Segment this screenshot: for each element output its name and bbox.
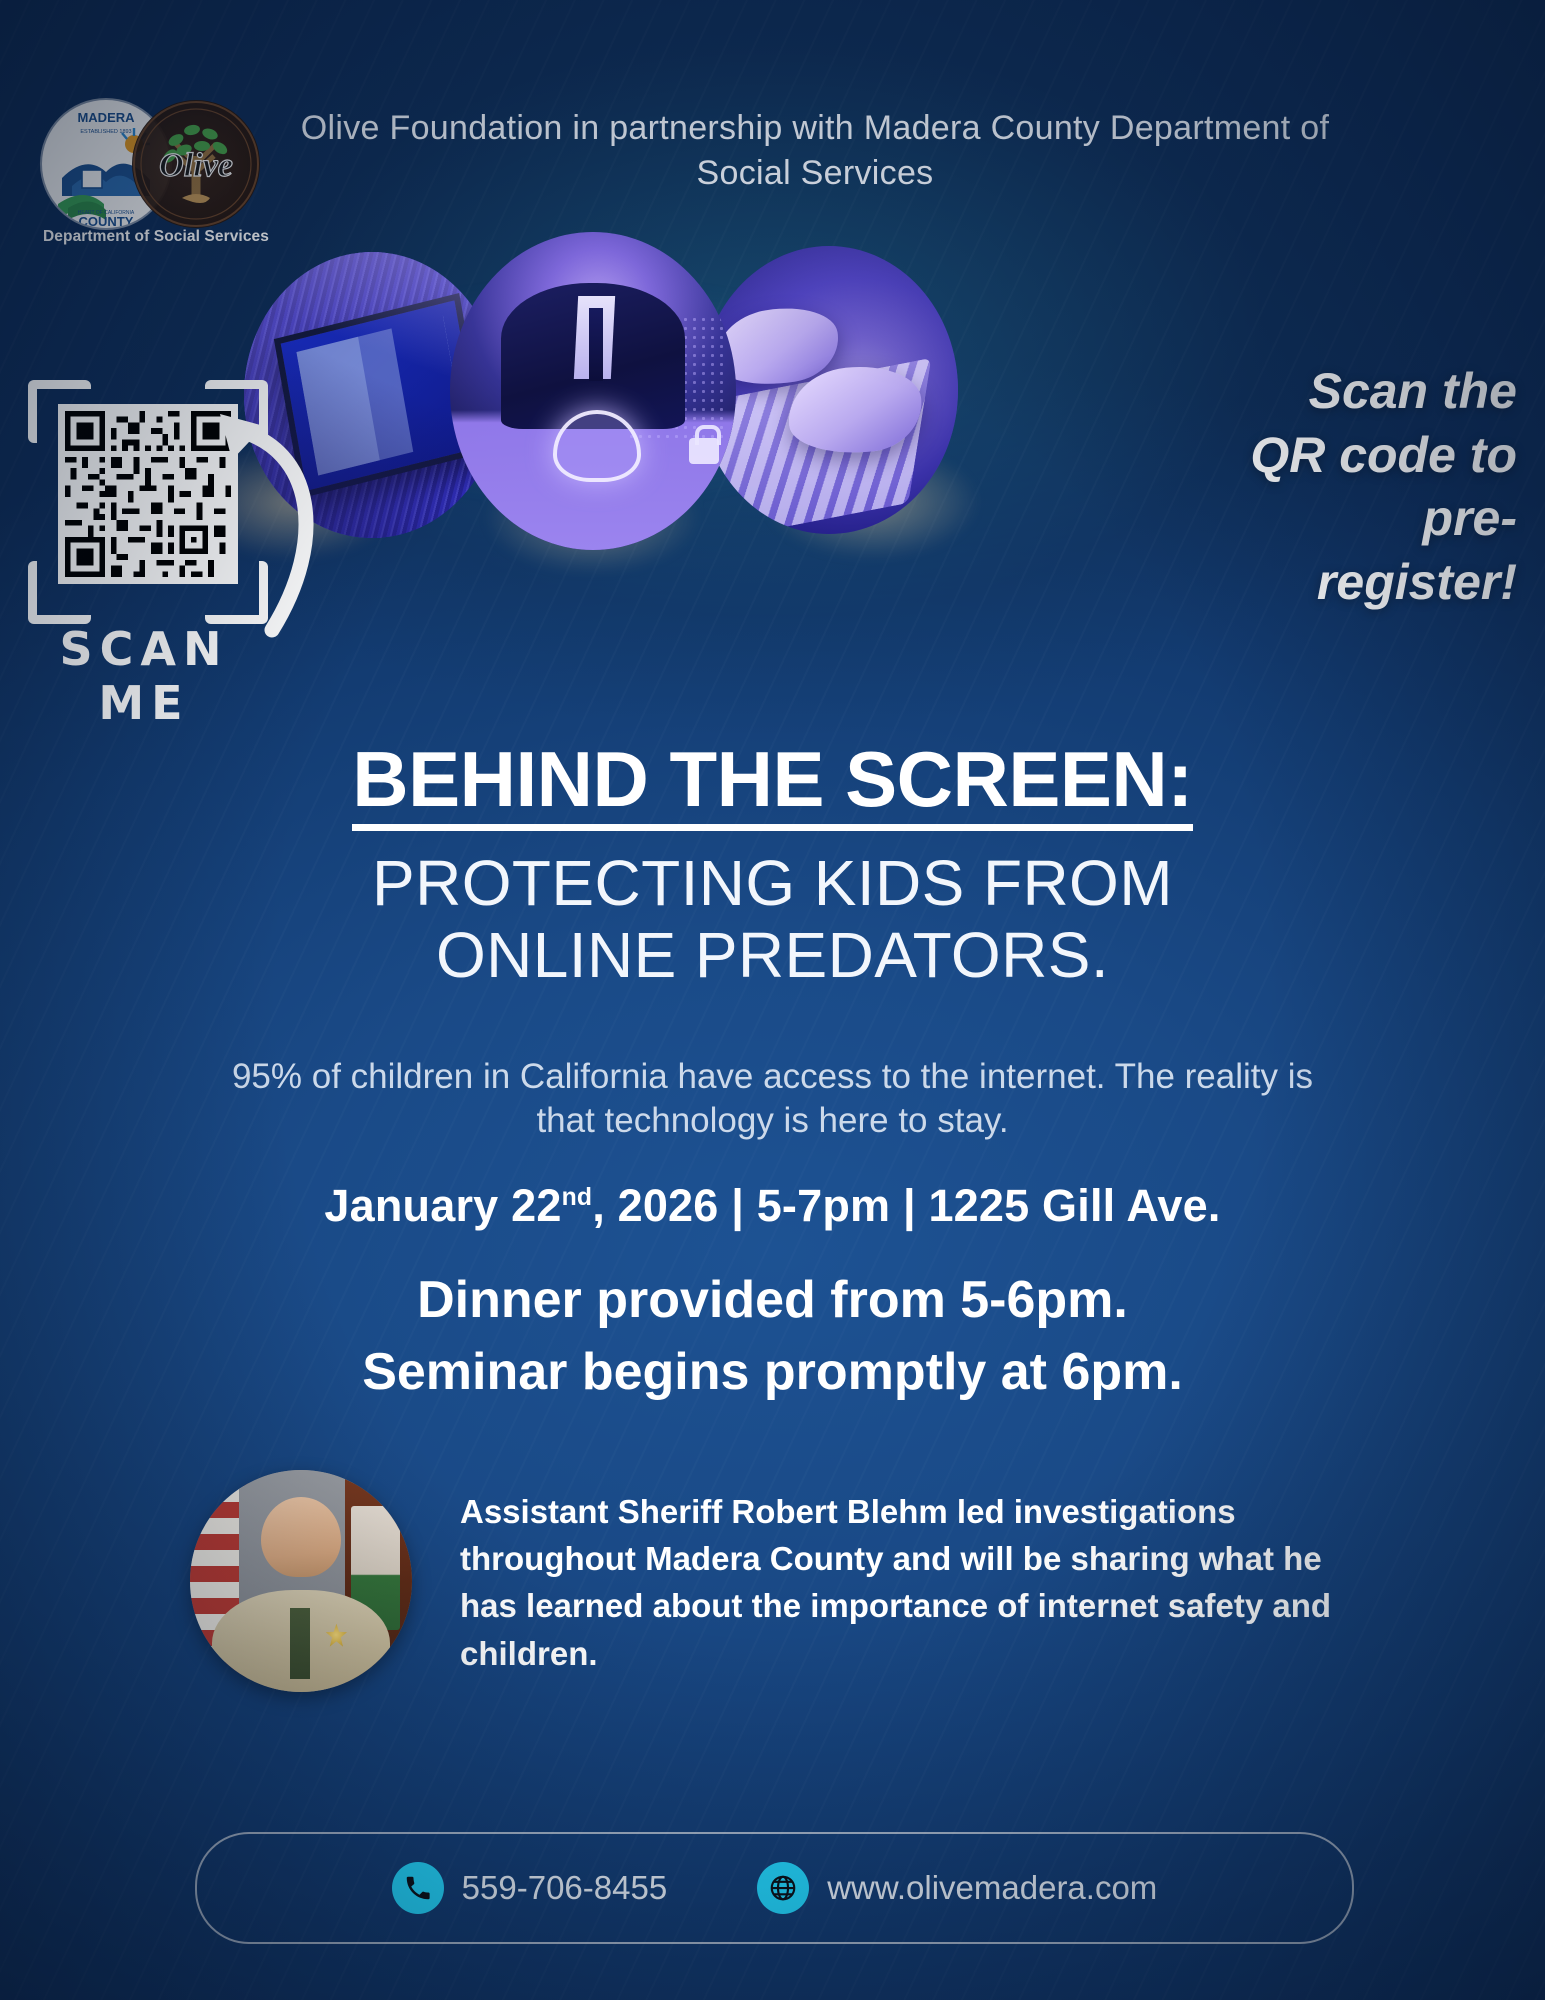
logo-group: MADERA ESTABLISHED 1893 HEART OF CALIFOR xyxy=(36,92,266,252)
page-title: BEHIND THE SCREEN: xyxy=(352,740,1192,831)
olive-foundation-seal-icon: Olive xyxy=(132,100,260,228)
svg-text:COUNTY: COUNTY xyxy=(79,214,134,228)
contact-bar: 559-706-8455 www.olivemadera.com xyxy=(195,1832,1354,1944)
event-date-prefix: January 22 xyxy=(324,1180,561,1231)
speaker-bio: Assistant Sheriff Robert Blehm led inves… xyxy=(190,1470,1370,1692)
page-subtitle: PROTECTING KIDS FROM ONLINE PREDATORS. xyxy=(0,847,1545,992)
scan-me-label: SCAN ME xyxy=(24,622,264,730)
page-subtitle-line-1: PROTECTING KIDS FROM xyxy=(0,847,1545,919)
page-subtitle-line-2: ONLINE PREDATORS. xyxy=(0,919,1545,991)
phone-icon xyxy=(392,1862,444,1914)
event-date-rest: , 2026 | 5-7pm | 1225 Gill Ave. xyxy=(592,1180,1220,1231)
hero-photo-band xyxy=(232,232,947,562)
header-org-line: Olive Foundation in partnership with Mad… xyxy=(270,106,1360,196)
photo-hands-keyboard xyxy=(700,246,958,534)
event-date-line: January 22nd, 2026 | 5-7pm | 1225 Gill A… xyxy=(0,1180,1545,1232)
phone-number: 559-706-8455 xyxy=(462,1869,668,1907)
speaker-bio-text: Assistant Sheriff Robert Blehm led inves… xyxy=(460,1470,1370,1677)
photo-businessman-cloud xyxy=(450,232,736,550)
flyer-poster: MADERA ESTABLISHED 1893 HEART OF CALIFOR xyxy=(0,0,1545,2000)
svg-text:Olive: Olive xyxy=(159,147,233,184)
event-seminar-line: Seminar begins promptly at 6pm. xyxy=(0,1337,1545,1409)
event-date-ordinal: nd xyxy=(562,1184,593,1211)
title-block: BEHIND THE SCREEN: PROTECTING KIDS FROM … xyxy=(0,740,1545,992)
contact-phone[interactable]: 559-706-8455 xyxy=(392,1862,668,1914)
website-url: www.olivemadera.com xyxy=(827,1869,1157,1907)
event-schedule: Dinner provided from 5-6pm. Seminar begi… xyxy=(0,1265,1545,1409)
contact-website[interactable]: www.olivemadera.com xyxy=(757,1862,1157,1914)
globe-icon xyxy=(757,1862,809,1914)
header: MADERA ESTABLISHED 1893 HEART OF CALIFOR xyxy=(0,92,1545,252)
svg-text:MADERA: MADERA xyxy=(77,110,135,125)
event-dinner-line: Dinner provided from 5-6pm. xyxy=(0,1265,1545,1337)
qr-code-block[interactable] xyxy=(22,380,274,630)
statistic-text: 95% of children in California have acces… xyxy=(208,1055,1338,1143)
qr-cta-text: Scan the QR code to pre-register! xyxy=(1227,360,1517,614)
qr-code-image[interactable] xyxy=(58,404,238,584)
avatar xyxy=(190,1470,412,1692)
lock-icon xyxy=(689,438,719,464)
